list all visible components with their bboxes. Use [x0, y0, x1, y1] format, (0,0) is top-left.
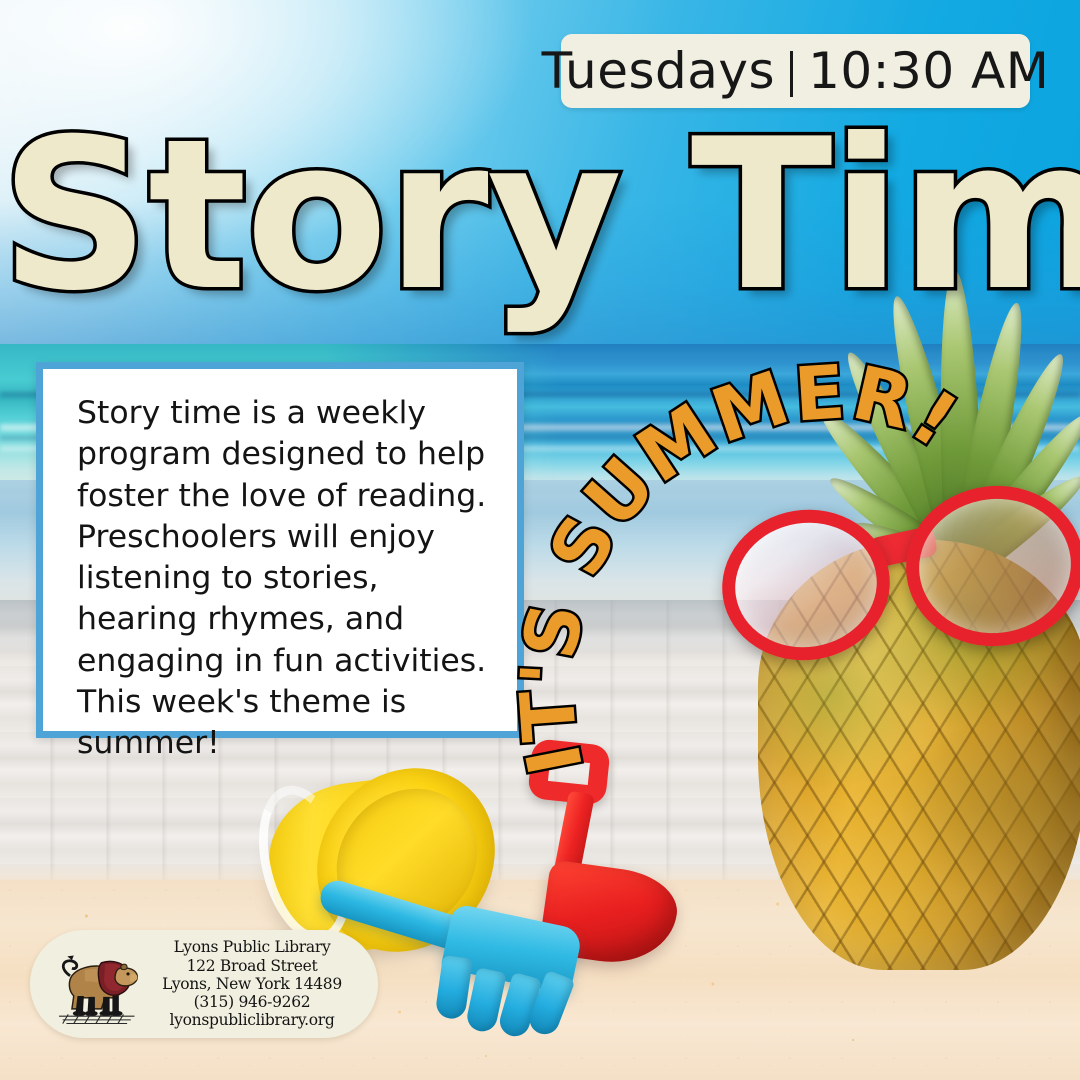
its-summer-textpath: IT'S SUMMER!: [504, 349, 973, 781]
library-phone: (315) 946-9262: [140, 993, 364, 1011]
walking-lion-icon: [48, 944, 140, 1024]
library-name: Lyons Public Library: [140, 938, 364, 956]
its-summer-banner: IT'S SUMMER!: [512, 388, 942, 788]
schedule-separator-icon: [790, 51, 793, 97]
story-time-flyer: Tuesdays10:30 AM Story Time Story time i…: [0, 0, 1080, 1080]
description-text: Story time is a weekly program designed …: [77, 393, 497, 764]
library-address: 122 Broad Street: [140, 957, 364, 975]
schedule-badge-text: Tuesdays10:30 AM: [542, 46, 1050, 97]
library-logo-text: Lyons Public Library 122 Broad Street Ly…: [140, 938, 378, 1029]
its-summer-text: IT'S SUMMER!: [504, 349, 973, 781]
schedule-day: Tuesdays: [542, 42, 775, 100]
page-title: Story Time: [0, 112, 1080, 320]
library-city-state: Lyons, New York 14489: [140, 975, 364, 993]
library-logo-badge: Lyons Public Library 122 Broad Street Ly…: [30, 930, 378, 1038]
description-box: Story time is a weekly program designed …: [36, 362, 524, 738]
library-website: lyonspubliclibrary.org: [140, 1011, 364, 1029]
schedule-time: 10:30 AM: [808, 42, 1049, 100]
rake-head: [441, 903, 584, 995]
